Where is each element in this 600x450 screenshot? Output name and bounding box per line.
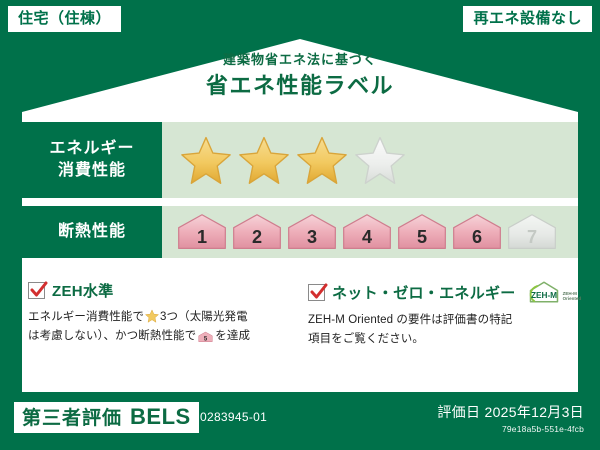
insulation-house-4: 4 (341, 213, 393, 251)
insulation-house-6: 6 (451, 213, 503, 251)
evaluation-date: 評価日 2025年12月3日 (437, 404, 584, 421)
tag-renewable-energy: 再エネ設備なし (463, 6, 592, 32)
energy-performance-label: 住宅（住棟） 再エネ設備なし 建築物省エネ法に基づく 省エネ性能ラベル エネルギ… (0, 0, 600, 450)
net-zero-energy-header: ネット・ゼロ・エネルギー ZEH-M ZEH-M Oriented (308, 280, 578, 304)
net-zero-energy-section: ネット・ゼロ・エネルギー ZEH-M ZEH-M Oriented (308, 280, 578, 349)
zeh-desc-part3: を達成 (215, 330, 250, 342)
svg-text:ZEH-M: ZEH-M (531, 291, 557, 300)
bels-certificate-number: 0283945-01 (200, 410, 267, 424)
star-rating (180, 135, 406, 185)
svg-text:5: 5 (417, 227, 427, 247)
insulation-house-5: 5 (396, 213, 448, 251)
net-zero-energy-title: ネット・ゼロ・エネルギー (332, 282, 516, 303)
insulation-house-3: 3 (286, 213, 338, 251)
title-subtitle: 建築物省エネ法に基づく (0, 52, 600, 68)
zeh-desc-starcount: 3つ（太陽光発電 (160, 311, 248, 323)
zeh-m-logo-subtext: ZEH-M Oriented (563, 291, 582, 304)
certification-sections: ZEH水準 エネルギー消費性能で3つ（太陽光発電 は考慮しない）、かつ断熱性能で… (22, 266, 578, 349)
checkbox-net-zero-energy[interactable] (308, 284, 325, 301)
svg-text:4: 4 (362, 227, 372, 247)
energy-performance-row: エネルギー 消費性能 (22, 122, 578, 198)
insulation-house-2: 2 (231, 213, 283, 251)
svg-text:3: 3 (307, 227, 317, 247)
zeh-m-sub2: Oriented (563, 296, 582, 301)
insulation-performance-row: 断熱性能 1 2 3 (22, 206, 578, 258)
check-icon (309, 282, 329, 302)
star-icon-filled-2 (238, 135, 290, 185)
energy-performance-label: エネルギー 消費性能 (22, 122, 162, 198)
inline-star-icon (145, 309, 159, 323)
energy-label-line1: エネルギー (49, 138, 134, 160)
zeh-standard-title: ZEH水準 (52, 280, 114, 301)
nze-desc-line2: 項目をご覧ください。 (308, 333, 424, 345)
document-hash: 79e18a5b-551e-4fcb (437, 424, 584, 434)
zeh-m-house-icon: ZEH-M (527, 280, 561, 304)
svg-text:7: 7 (527, 227, 537, 247)
check-icon (29, 280, 49, 300)
zeh-desc-part2: は考慮しない）、かつ断熱性能で (28, 330, 196, 342)
evaluation-date-value: 2025年12月3日 (484, 404, 584, 420)
zeh-desc-part1: エネルギー消費性能で (28, 311, 144, 323)
zeh-m-logo: ZEH-M ZEH-M Oriented (527, 280, 582, 304)
svg-text:2: 2 (252, 227, 262, 247)
insulation-level-scale: 1 2 3 4 5 (176, 213, 558, 251)
zeh-standard-header: ZEH水準 (28, 280, 298, 301)
insulation-performance-value: 1 2 3 4 5 (162, 206, 578, 258)
label-title-block: 建築物省エネ法に基づく 省エネ性能ラベル (0, 52, 600, 99)
insulation-performance-label: 断熱性能 (22, 206, 162, 258)
star-icon-filled-1 (180, 135, 232, 185)
energy-label-line2: 消費性能 (58, 160, 126, 182)
evaluation-date-block: 評価日 2025年12月3日 79e18a5b-551e-4fcb (437, 404, 584, 434)
footer-bar: 第三者評価 BELS 0283945-01 評価日 2025年12月3日 79e… (0, 394, 600, 450)
svg-text:6: 6 (472, 227, 482, 247)
star-icon-empty-4 (354, 135, 406, 185)
bels-plate: 第三者評価 BELS (14, 402, 199, 433)
tag-building-type: 住宅（住棟） (8, 6, 121, 32)
title-main: 省エネ性能ラベル (0, 73, 600, 99)
checkbox-zeh-standard[interactable] (28, 282, 45, 299)
star-icon-filled-3 (296, 135, 348, 185)
energy-performance-value (162, 122, 578, 198)
bels-logo-text: BELS (130, 406, 191, 428)
insulation-house-7: 7 (506, 213, 558, 251)
insulation-house-1: 1 (176, 213, 228, 251)
bels-japanese-label: 第三者評価 (22, 409, 122, 428)
evaluation-date-label: 評価日 (437, 404, 480, 420)
nze-desc-line1: ZEH-M Oriented の要件は評価書の特記 (308, 314, 512, 326)
svg-text:1: 1 (197, 227, 207, 247)
net-zero-energy-description: ZEH-M Oriented の要件は評価書の特記 項目をご覧ください。 (308, 311, 578, 349)
inline-house-badge-icon: 5 (198, 331, 213, 343)
zeh-standard-description: エネルギー消費性能で3つ（太陽光発電 は考慮しない）、かつ断熱性能で5を達成 (28, 308, 298, 346)
ratings-card: エネルギー 消費性能 (22, 122, 578, 390)
zeh-standard-section: ZEH水準 エネルギー消費性能で3つ（太陽光発電 は考慮しない）、かつ断熱性能で… (28, 280, 298, 349)
